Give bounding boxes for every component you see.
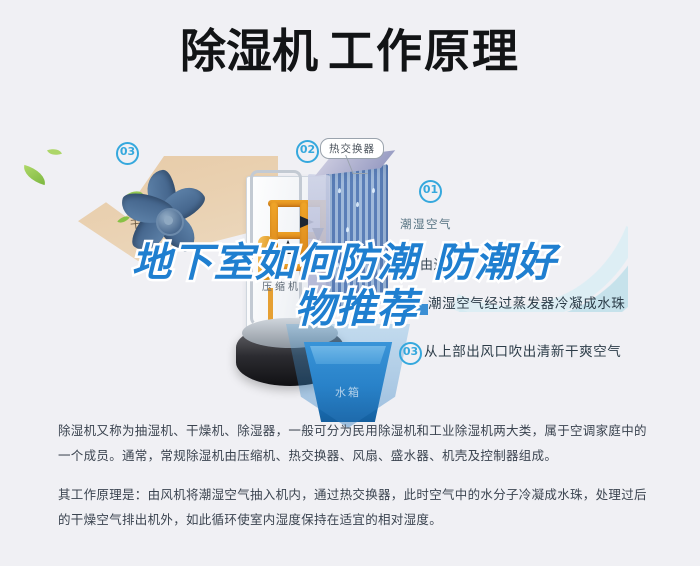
air-intake-arrow-icon xyxy=(386,300,428,320)
condensation-drops xyxy=(326,164,388,312)
leaf-icon xyxy=(47,146,62,158)
body-paragraph-2: 其工作原理是：由风机将潮湿空气抽入机内，通过热交换器，此时空气中的水分子冷凝成水… xyxy=(58,482,648,532)
page-header: 除湿机工作原理 xyxy=(0,26,700,77)
compressor-cylinder xyxy=(258,236,274,280)
moist-air-label: 潮湿空气 xyxy=(400,216,452,232)
page-title-part1: 除湿机 xyxy=(180,24,318,78)
dehumidifier-diagram: 干燥空气 xyxy=(0,128,700,413)
marker-02: 02 xyxy=(296,140,319,163)
compressor-caption-occluded: 压缩机 xyxy=(262,278,301,293)
bubble-tail xyxy=(349,155,350,175)
heat-exchanger-bubble: 热交换器 xyxy=(320,138,384,159)
marker-03-left: 03 xyxy=(116,142,139,165)
callout-text-1: 潮湿空气经过蒸发器冷凝成水珠 xyxy=(428,292,625,312)
evaporator-fin-block xyxy=(326,164,388,312)
fan-illustration xyxy=(118,166,226,264)
body-copy: 除湿机又称为抽湿机、干燥机、除湿器，一般可分为民用除湿机和工业除湿机两大类，属于… xyxy=(58,418,648,532)
coil-segment xyxy=(300,202,308,274)
leaf-icon xyxy=(21,165,49,185)
marker-01: 01 xyxy=(419,180,442,203)
infographic-page: 除湿机工作原理 干燥空气 xyxy=(0,0,700,566)
flow-arrow-up-icon xyxy=(282,240,294,254)
water-tank: 水箱 xyxy=(300,342,396,422)
heat-exchanger-label: 热交换器 xyxy=(329,143,375,155)
water-tank-opening xyxy=(310,346,386,364)
intake-caption-occluded: 由进 xyxy=(420,254,447,273)
body-paragraph-1: 除湿机又称为抽湿机、干燥机、除湿器，一般可分为民用除湿机和工业除湿机两大类，属于… xyxy=(58,418,648,468)
water-tank-label: 水箱 xyxy=(300,384,396,400)
page-title: 除湿机工作原理 xyxy=(180,26,520,77)
page-title-part2: 工作原理 xyxy=(328,24,520,78)
callout-text-2: 从上部出风口吹出清新干爽空气 xyxy=(424,340,621,360)
marker-03-right: 03 xyxy=(399,342,422,365)
fan-hub xyxy=(156,208,184,236)
